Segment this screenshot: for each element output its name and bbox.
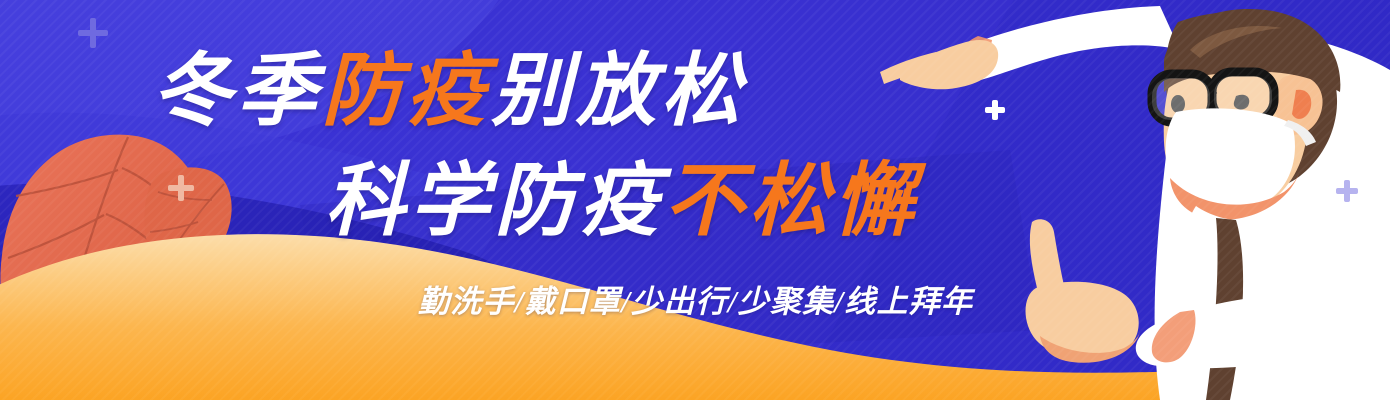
plus-icon-top-left	[78, 18, 108, 48]
epidemic-prevention-banner: 冬季防疫别放松 科学防疫不松懈 勤洗手/戴口罩/少出行/少聚集/线上拜年	[0, 0, 1390, 400]
diagonal-stripe-texture	[0, 0, 1390, 400]
plus-icon-center-right	[985, 100, 1005, 120]
plus-icon-far-right	[1336, 180, 1358, 202]
plus-icon-leaf-small	[168, 175, 194, 201]
